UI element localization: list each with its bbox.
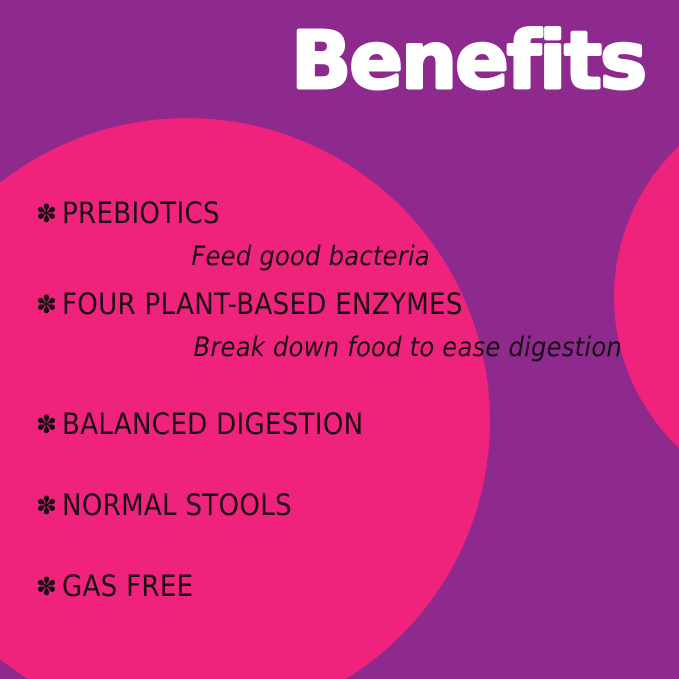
benefit-item-four-plant-based-enzymes: ✽ FOUR PLANT-BASED ENZYMES Break down fo… bbox=[36, 287, 646, 364]
benefit-subtitle: Break down food to ease digestion bbox=[36, 332, 624, 364]
benefits-poster: Benefits ✽ PREBIOTICS Feed good bacteria… bbox=[0, 0, 679, 679]
benefits-list: ✽ PREBIOTICS Feed good bacteria ✽ FOUR P… bbox=[36, 196, 646, 603]
flower-asterisk-bullet-icon: ✽ bbox=[36, 574, 62, 599]
benefit-item-prebiotics: ✽ PREBIOTICS Feed good bacteria bbox=[36, 196, 646, 273]
benefit-item-balanced-digestion: ✽ BALANCED DIGESTION bbox=[36, 407, 646, 441]
benefit-main-row: ✽ NORMAL STOOLS bbox=[36, 488, 646, 522]
page-title: Benefits bbox=[0, 22, 645, 101]
benefit-label: BALANCED DIGESTION bbox=[62, 407, 364, 441]
benefit-item-normal-stools: ✽ NORMAL STOOLS bbox=[36, 488, 646, 522]
benefit-label: PREBIOTICS bbox=[62, 196, 220, 230]
flower-asterisk-bullet-icon: ✽ bbox=[36, 493, 62, 518]
benefit-main-row: ✽ PREBIOTICS bbox=[36, 196, 646, 230]
benefit-main-row: ✽ GAS FREE bbox=[36, 569, 646, 603]
benefit-main-row: ✽ BALANCED DIGESTION bbox=[36, 407, 646, 441]
benefit-label: GAS FREE bbox=[62, 569, 193, 603]
benefit-label: NORMAL STOOLS bbox=[62, 488, 292, 522]
benefit-item-gas-free: ✽ GAS FREE bbox=[36, 569, 646, 603]
flower-asterisk-bullet-icon: ✽ bbox=[36, 201, 62, 226]
flower-asterisk-bullet-icon: ✽ bbox=[36, 412, 62, 437]
benefit-subtitle: Feed good bacteria bbox=[36, 241, 432, 273]
benefit-label: FOUR PLANT-BASED ENZYMES bbox=[62, 287, 463, 321]
flower-asterisk-bullet-icon: ✽ bbox=[36, 292, 62, 317]
benefit-main-row: ✽ FOUR PLANT-BASED ENZYMES bbox=[36, 287, 646, 321]
